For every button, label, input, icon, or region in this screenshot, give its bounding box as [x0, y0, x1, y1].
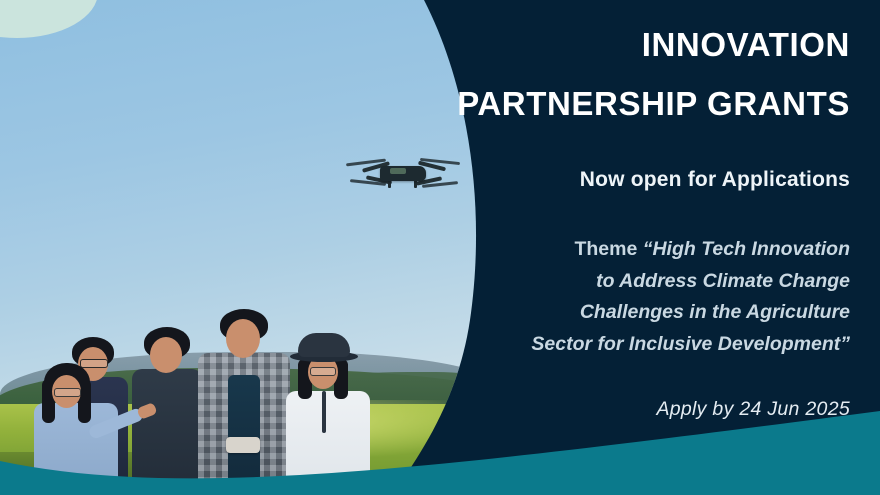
theme-quote-line-1: “High Tech Innovation	[643, 238, 850, 260]
theme-line-1: Theme “High Tech Innovation	[310, 234, 850, 266]
application-deadline: Apply by 24 Jun 2025	[310, 398, 850, 421]
headline-line-1: INNOVATION	[310, 28, 850, 61]
theme-lead-label: Theme	[574, 238, 642, 260]
drone-controller	[226, 437, 260, 453]
headline-line-2: PARTNERSHIP GRANTS	[310, 87, 850, 120]
subtitle-open-for-applications: Now open for Applications	[310, 168, 850, 192]
theme-quote-line-4: Sector for Inclusive Development”	[310, 329, 850, 361]
grant-announcement-poster: INNOVATION PARTNERSHIP GRANTS Now open f…	[0, 0, 880, 495]
theme-block: Theme “High Tech Innovation to Address C…	[310, 234, 850, 360]
text-content-panel: INNOVATION PARTNERSHIP GRANTS Now open f…	[310, 0, 850, 495]
person-pointing	[34, 357, 130, 495]
person-with-controller	[198, 309, 290, 495]
theme-quote-line-2: to Address Climate Change	[310, 266, 850, 298]
theme-quote-line-3: Challenges in the Agriculture	[310, 297, 850, 329]
